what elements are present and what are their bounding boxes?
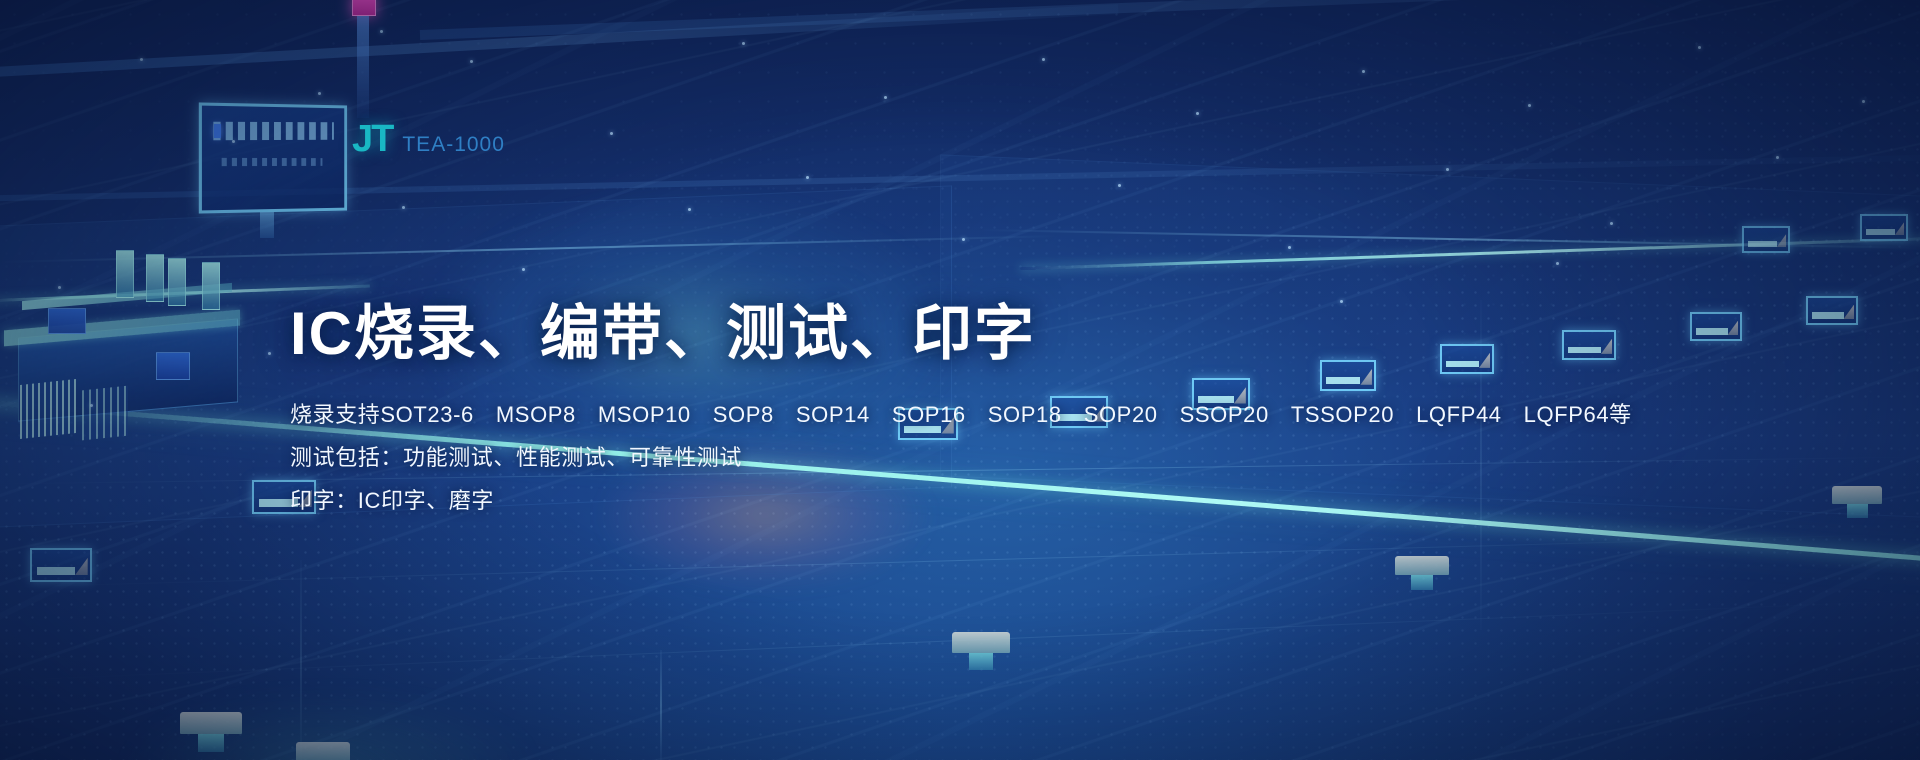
package-type: LQFP44 xyxy=(1416,402,1524,427)
page-title: IC烧录、编带、测试、印字 xyxy=(290,300,1630,368)
package-type: MSOP8 xyxy=(496,402,598,427)
package-type: SOP14 xyxy=(796,402,892,427)
jt-logo-mark: JT xyxy=(352,118,392,161)
equipment-model-label: TEA-1000 xyxy=(402,133,505,157)
service-detail-list: 烧录支持SOT23-6MSOP8MSOP10SOP8SOP14SOP16SOP1… xyxy=(290,394,1630,523)
package-type: SSOP20 xyxy=(1180,402,1291,427)
burning-support-label: 烧录支持 xyxy=(290,402,380,427)
hero-text-block: IC烧录、编带、测试、印字 烧录支持SOT23-6MSOP8MSOP10SOP8… xyxy=(290,300,1630,523)
package-type: SOP18 xyxy=(988,402,1084,427)
banner-hero: JT TEA-1000 IC烧录、编带、测试、印字 烧录支持SOT23-6MSO… xyxy=(0,0,1920,760)
package-type: SOP16 xyxy=(892,402,988,427)
service-line-testing: 测试包括：功能测试、性能测试、可靠性测试 xyxy=(290,437,1630,480)
package-type: MSOP10 xyxy=(598,402,713,427)
package-type: SOP8 xyxy=(713,402,796,427)
equipment-branding: JT TEA-1000 xyxy=(352,118,505,161)
package-type: SOT23-6 xyxy=(380,402,495,427)
package-type: SOP20 xyxy=(1084,402,1180,427)
service-line-marking: 印字：IC印字、磨字 xyxy=(290,480,1630,523)
package-type: TSSOP20 xyxy=(1291,402,1416,427)
service-line-burning: 烧录支持SOT23-6MSOP8MSOP10SOP8SOP14SOP16SOP1… xyxy=(290,394,1630,437)
package-type: LQFP64等 xyxy=(1524,402,1632,427)
